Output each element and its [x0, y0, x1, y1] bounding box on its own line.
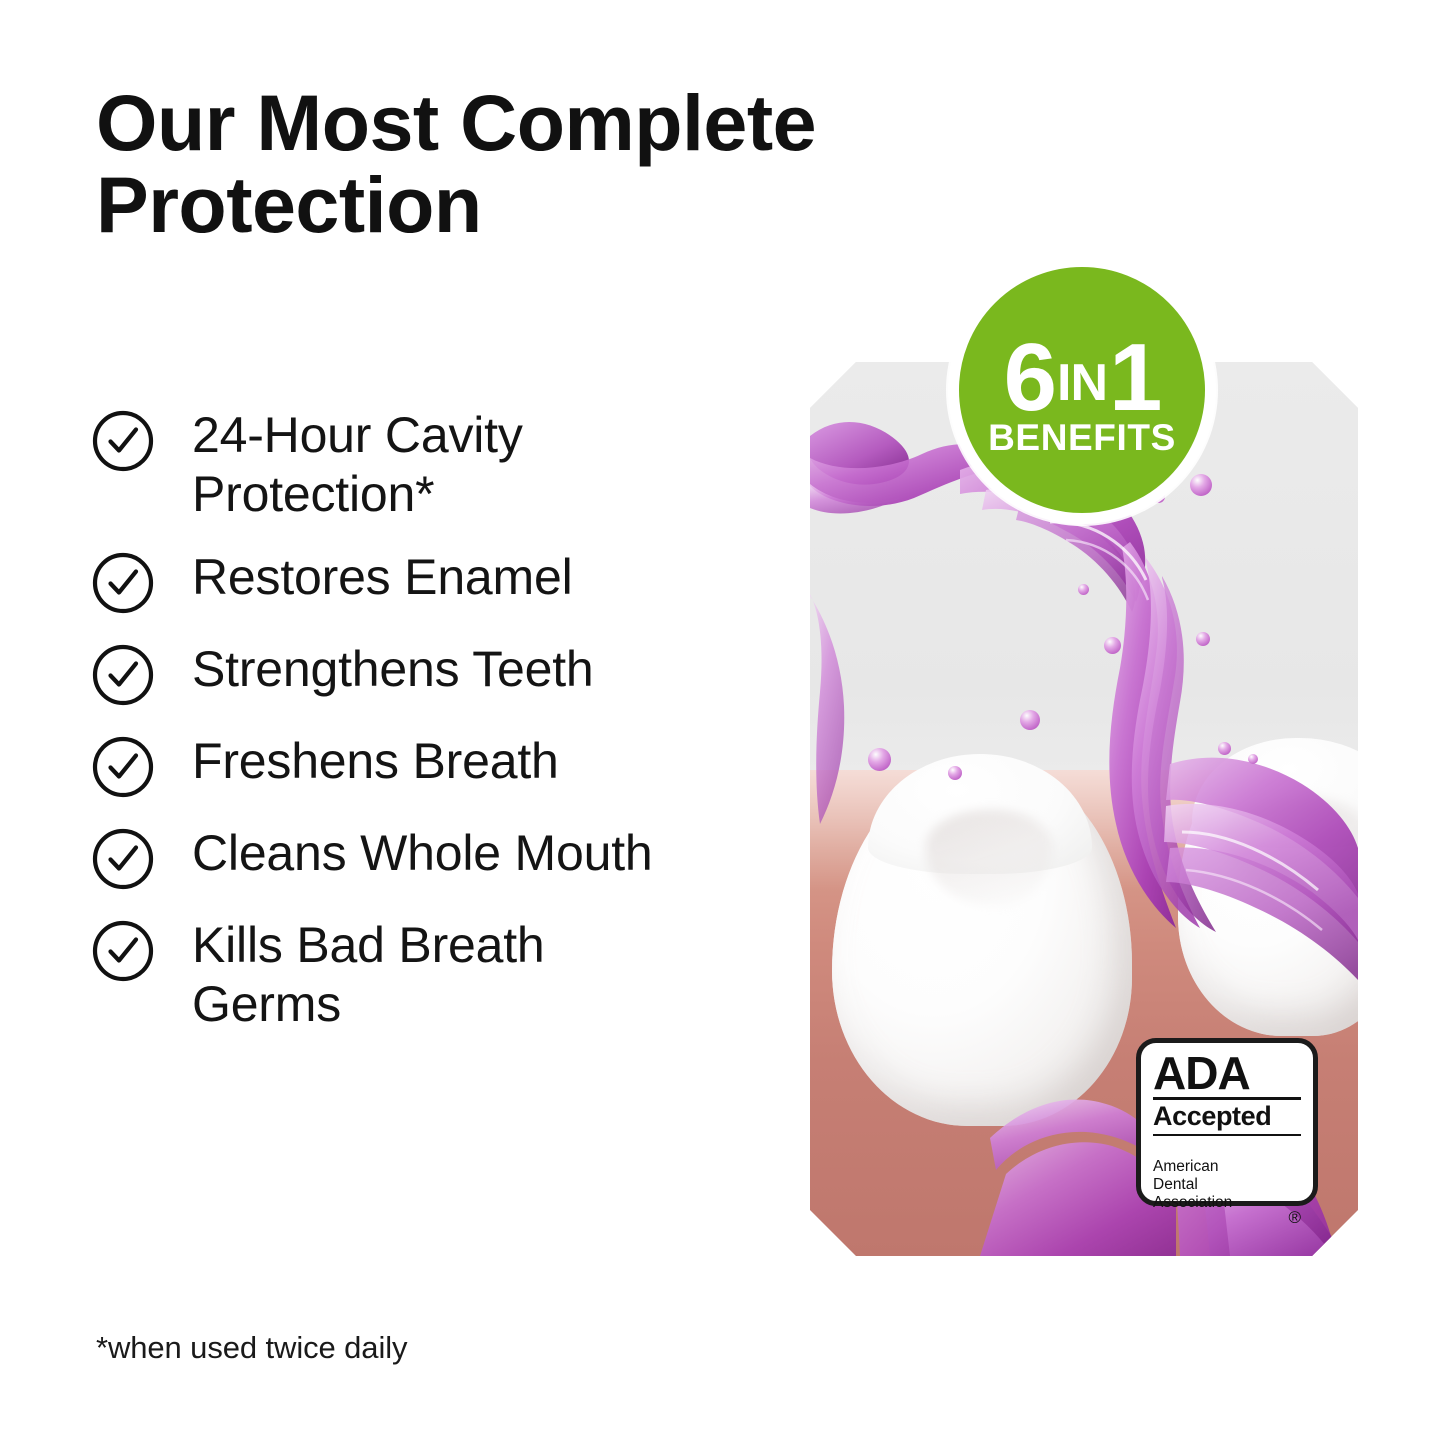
ada-accepted-seal: ADA Accepted American Dental Association…: [1136, 1038, 1318, 1206]
list-item: 24-Hour Cavity Protection*: [90, 404, 780, 524]
badge-subtitle: BENEFITS: [988, 417, 1176, 459]
check-circle-icon: [90, 826, 156, 892]
page-title: Our Most Complete Protection: [96, 82, 976, 246]
splash-droplet: [948, 766, 962, 780]
benefits-list: 24-Hour Cavity Protection* Restores Enam…: [90, 404, 780, 1056]
splash-droplet: [1190, 474, 1212, 496]
list-item-label: 24-Hour Cavity Protection*: [192, 404, 523, 524]
list-item: Cleans Whole Mouth: [90, 822, 780, 892]
badge-count: 6: [1004, 335, 1055, 421]
splash-droplet: [868, 748, 891, 771]
list-item-label: Strengthens Teeth: [192, 638, 594, 699]
list-item-label: Freshens Breath: [192, 730, 559, 791]
check-circle-icon: [90, 918, 156, 984]
footnote-text: *when used twice daily: [96, 1330, 407, 1366]
list-item-label: Kills Bad Breath Germs: [192, 914, 545, 1034]
check-circle-icon: [90, 408, 156, 474]
splash-droplet: [1196, 632, 1210, 646]
list-item: Freshens Breath: [90, 730, 780, 800]
list-item-label: Restores Enamel: [192, 546, 573, 607]
list-item: Strengthens Teeth: [90, 638, 780, 708]
splash-droplet: [1020, 710, 1040, 730]
ada-status: Accepted: [1153, 1100, 1301, 1136]
registered-trademark-icon: ®: [1288, 1208, 1301, 1228]
badge-connector: IN: [1055, 360, 1109, 407]
list-item: Kills Bad Breath Germs: [90, 914, 780, 1034]
check-circle-icon: [90, 734, 156, 800]
ada-organization: American Dental Association ®: [1153, 1136, 1301, 1230]
badge-headline: 6 IN 1: [1004, 335, 1161, 421]
splash-droplet: [1078, 584, 1089, 595]
splash-droplet: [1218, 742, 1231, 755]
check-circle-icon: [90, 550, 156, 616]
badge-total: 1: [1109, 335, 1160, 421]
benefits-badge: 6 IN 1 BENEFITS: [948, 256, 1216, 524]
ada-organization-text: American Dental Association: [1153, 1158, 1232, 1211]
splash-droplet: [1248, 754, 1258, 764]
check-circle-icon: [90, 642, 156, 708]
ada-title: ADA: [1153, 1052, 1301, 1100]
list-item-label: Cleans Whole Mouth: [192, 822, 653, 883]
list-item: Restores Enamel: [90, 546, 780, 616]
promo-image-canvas: Our Most Complete Protection 24-Hour Cav…: [0, 0, 1445, 1445]
splash-droplet: [1104, 637, 1121, 654]
